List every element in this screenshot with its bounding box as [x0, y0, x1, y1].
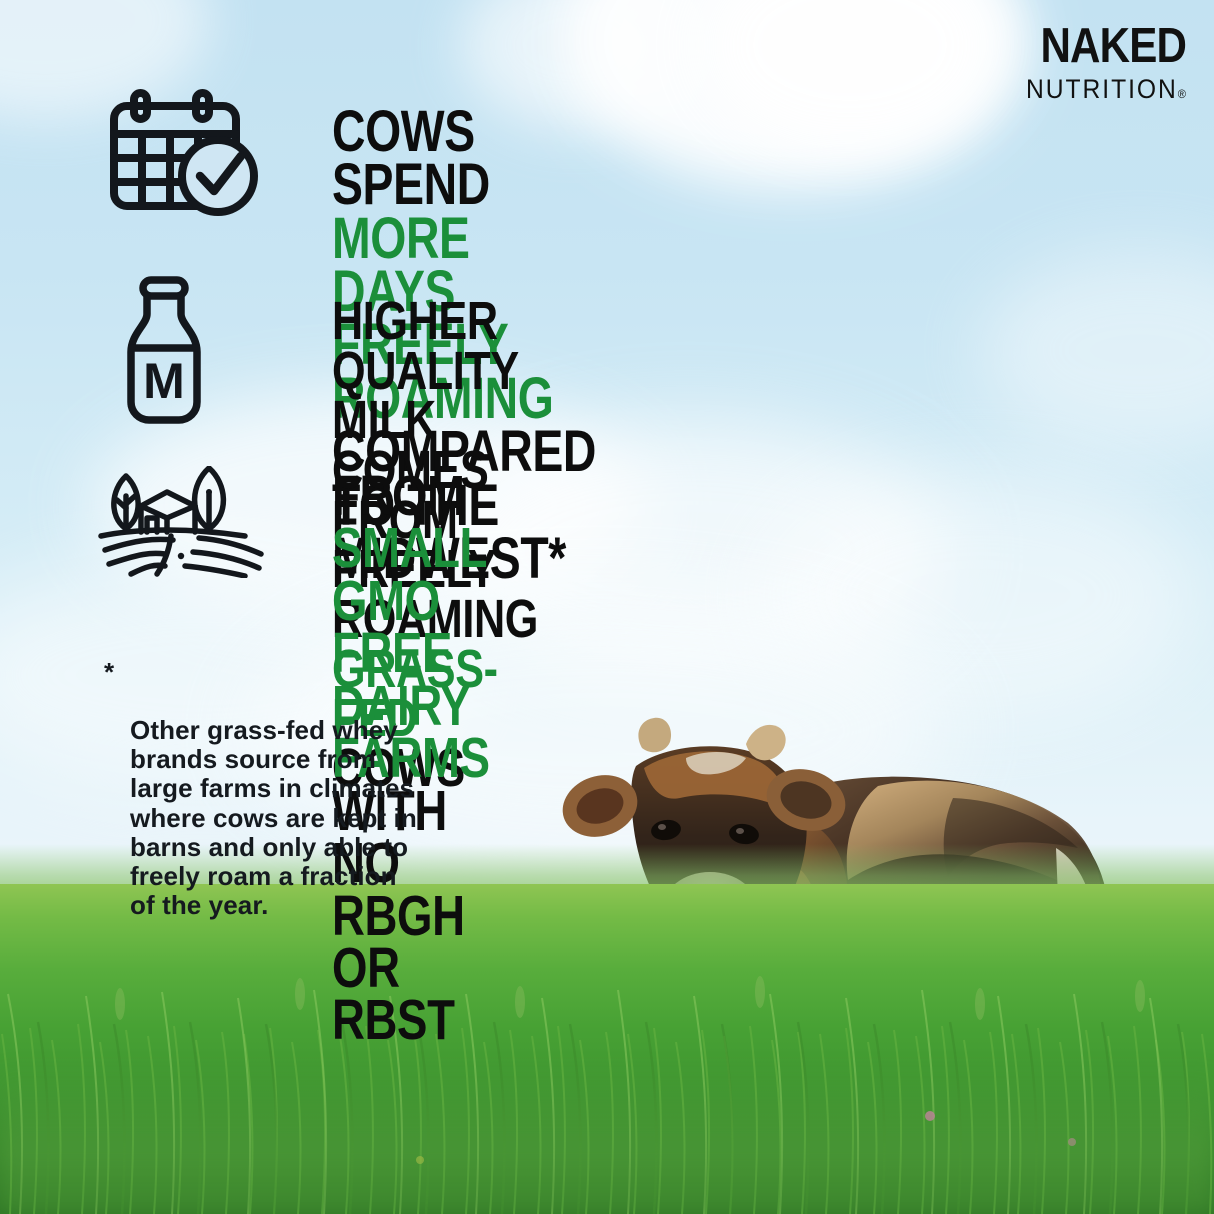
- logo-wordmark: NAKED: [1038, 22, 1186, 71]
- footnote-asterisk: *: [104, 658, 114, 687]
- milk-bottle-icon: M: [119, 276, 209, 426]
- promotional-infographic: NAKED NUTRITION®: [0, 0, 1214, 1214]
- farm-field-icon: [95, 466, 271, 578]
- footnote: * Other grass-fed whey brands source fro…: [104, 658, 524, 949]
- svg-text:M: M: [143, 353, 185, 409]
- brand-logo[interactable]: NAKED NUTRITION®: [1014, 22, 1186, 103]
- cloud: [980, 250, 1214, 450]
- footnote-text: Other grass-fed whey brands source from …: [104, 716, 524, 920]
- registered-mark-icon: ®: [1178, 87, 1186, 101]
- logo-tagline: NUTRITION®: [1026, 76, 1186, 103]
- grass-depth-haze: [0, 1064, 1214, 1214]
- calendar-check-icon: [104, 88, 266, 220]
